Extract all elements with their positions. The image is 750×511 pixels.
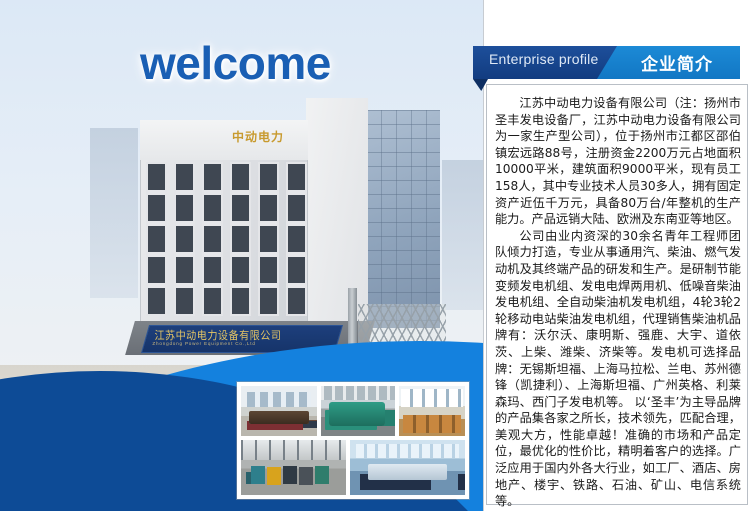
profile-body: 江苏中动电力设备有限公司（注：扬州市圣丰发电设备厂，江苏中动电力设备有限公司为一… [495,95,741,510]
warehouse-photo [241,440,346,495]
collage-row-bottom [241,440,465,495]
window-column [148,164,165,314]
section-title-cn: 企业简介 [641,50,713,75]
conference-room-photo [350,440,465,495]
meeting-room-photo [241,386,317,436]
building-tower [306,98,368,326]
open-office-photo [399,386,465,436]
window-column [288,164,305,314]
welcome-title: welcome [140,36,331,90]
building-signage-strip: 中动电力 [140,120,308,160]
distant-building-1 [90,128,138,298]
building-glass-curtain [366,110,440,328]
section-banner: Enterprise profile 企业简介 [473,46,740,79]
photo-collage [237,382,469,499]
profile-paragraph-1: 江苏中动电力设备有限公司（注：扬州市圣丰发电设备厂，江苏中动电力设备有限公司为一… [495,95,741,228]
window-column [204,164,221,314]
factory-building: 中动电力 江苏中动电力设备有限公司 Zhongdong Power Equipm… [140,98,440,358]
window-column [176,164,193,314]
collage-row-top [241,386,465,436]
company-profile-page: 中动电力 江苏中动电力设备有限公司 Zhongdong Power Equipm… [0,0,750,511]
window-column [232,164,249,314]
building-logo-text: 中动电力 [232,128,284,145]
company-name-sign-en: Zhongdong Power Equipment Co.,Ltd [152,341,255,346]
profile-paragraph-2: 公司由业内资深的30余名青年工程师团队倾力打造，专业从事通用汽、柴油、燃气发动机… [495,228,741,510]
window-column [260,164,277,314]
generator-set-photo [321,386,395,436]
profile-text-box: 江苏中动电力设备有限公司（注：扬州市圣丰发电设备厂，江苏中动电力设备有限公司为一… [486,84,748,505]
profile-panel: Enterprise profile 企业简介 江苏中动电力设备有限公司（注：扬… [483,0,750,511]
section-title-en: Enterprise profile [489,51,598,67]
